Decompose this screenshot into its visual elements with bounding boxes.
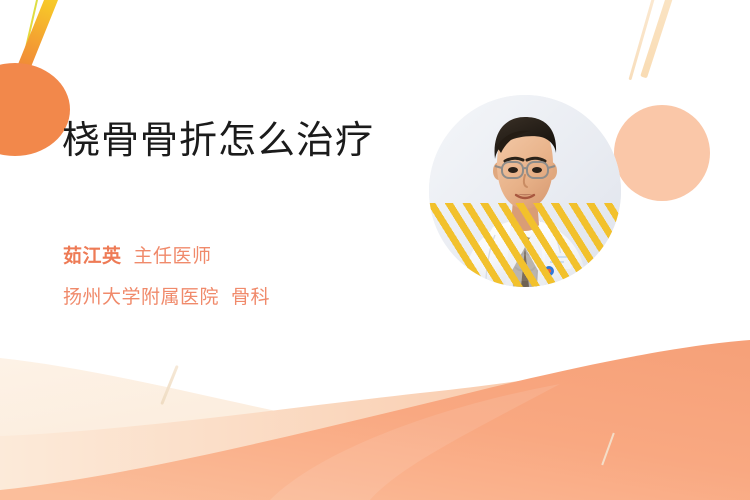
doctor-video-cover-card: 桡骨骨折怎么治疗 茹江英主任医师 扬州大学附属医院骨科 xyxy=(0,0,750,500)
diagonal-stripe-cream-thick-icon xyxy=(640,0,681,78)
diagonal-stripe-orange-icon xyxy=(12,0,69,84)
diagonal-stripe-cream-thin-icon xyxy=(628,0,660,80)
doctor-professional-title: 主任医师 xyxy=(134,246,212,267)
peach-circle-accent xyxy=(614,105,710,201)
hospital-name: 扬州大学附属医院 xyxy=(63,287,219,308)
doctor-affiliation: 扬州大学附属医院骨科 xyxy=(63,288,270,307)
doctor-portrait-avatar xyxy=(429,95,621,287)
orange-circle-accent xyxy=(0,63,70,156)
doctor-byline: 茹江英主任医师 xyxy=(63,247,212,266)
page-title: 桡骨骨折怎么治疗 xyxy=(62,118,374,166)
diagonal-stripe-lime-icon xyxy=(13,0,42,99)
department-name: 骨科 xyxy=(231,287,270,308)
doctor-name: 茹江英 xyxy=(63,246,122,267)
bottom-wave-decoration xyxy=(0,340,750,500)
doctor-portrait-image xyxy=(429,95,621,287)
